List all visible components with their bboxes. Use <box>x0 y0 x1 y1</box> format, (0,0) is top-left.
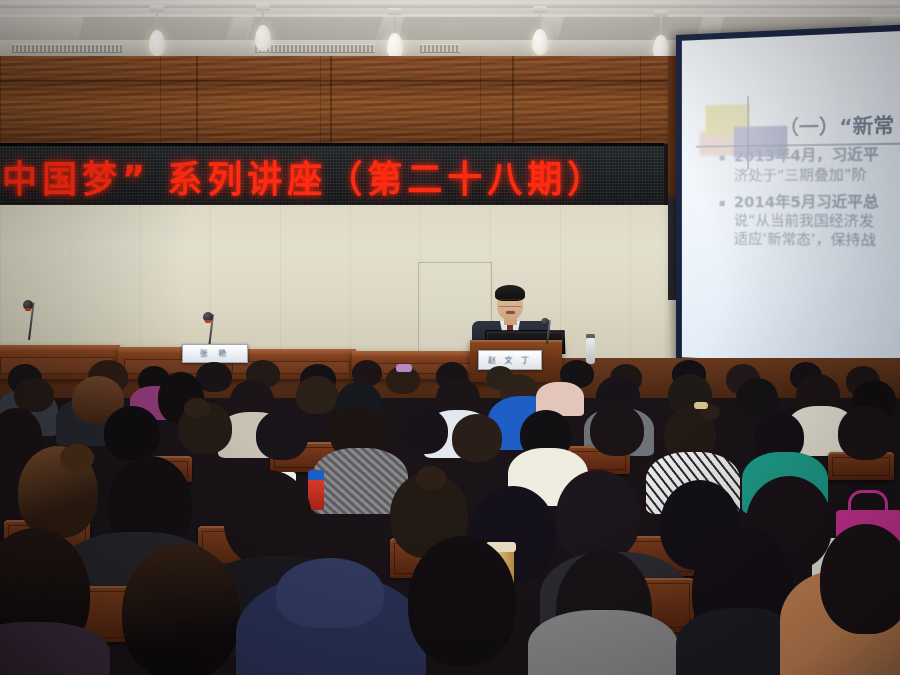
hair-bun <box>416 466 446 490</box>
led-banner: 中国梦” 系列讲座（第二十八期） <box>0 143 664 211</box>
slide-bullet-line: 适应‘新常态’，保持战 <box>734 231 900 252</box>
led-banner-text: 中国梦” 系列讲座（第二十八期） <box>2 149 607 203</box>
slide-bullet-line: 济处于“三期叠加”阶 <box>734 165 900 185</box>
air-vent <box>12 44 122 53</box>
wood-seam <box>330 56 332 144</box>
slide-bullet-line: 说“从当前我国经济发 <box>734 212 900 232</box>
audience-body <box>528 610 678 675</box>
audience-head <box>104 406 160 460</box>
wood-panel-wall <box>0 56 700 144</box>
air-vent <box>255 44 375 53</box>
audience-head <box>400 408 448 454</box>
lecture-hall-photo: 中国梦” 系列讲座（第二十八期） （一）“新常 2013年4月，习近平 济处于“… <box>0 0 900 675</box>
red-thermos-cap <box>308 470 324 480</box>
front-wall <box>0 205 668 365</box>
slide-bullet: 2013年4月，习近平 济处于“三期叠加”阶 <box>718 145 900 185</box>
slide-bullet-line: 2014年5月习近平总 <box>734 193 900 213</box>
audience-head <box>452 414 502 462</box>
placard-text: 张 艳 <box>200 348 231 359</box>
audience-head <box>820 524 900 634</box>
hair-clip <box>694 402 708 409</box>
hair-clip <box>396 364 412 372</box>
slide-bullet-line: 2013年4月，习近平 <box>734 145 900 167</box>
audience-head <box>556 470 640 562</box>
glasses-icon <box>499 299 521 307</box>
wood-seam <box>512 56 514 144</box>
ceiling-rail <box>0 2 900 8</box>
slide-title: （一）“新常 <box>779 110 894 140</box>
projection-screen: （一）“新常 2013年4月，习近平 济处于“三期叠加”阶 2014年5月习近平… <box>682 30 900 367</box>
audience-head <box>14 378 54 412</box>
audience <box>0 360 900 675</box>
lecturer-mouth <box>506 311 515 314</box>
ceiling-panel <box>396 16 543 42</box>
handbag-handle <box>848 490 888 515</box>
audience-head <box>408 536 516 666</box>
hood <box>276 558 384 628</box>
wood-seam <box>0 80 700 82</box>
audience-head <box>122 544 240 675</box>
air-vent <box>420 44 460 53</box>
audience-head <box>838 406 894 460</box>
projection-screen-frame: （一）“新常 2013年4月，习近平 济处于“三期叠加”阶 2014年5月习近平… <box>676 24 900 376</box>
slide-body: 2013年4月，习近平 济处于“三期叠加”阶 2014年5月习近平总 说“从当前… <box>718 145 900 261</box>
audience-head <box>256 410 308 460</box>
wood-seam <box>196 56 198 144</box>
ceiling-rail-secondary <box>0 14 900 17</box>
hair-bun <box>184 398 210 418</box>
audience-head <box>590 404 644 456</box>
audience-head <box>224 470 312 566</box>
hair-bun <box>60 444 94 472</box>
slide-bullet: 2014年5月习近平总 说“从当前我国经济发 适应‘新常态’，保持战 <box>718 193 900 252</box>
audience-head <box>296 376 338 414</box>
